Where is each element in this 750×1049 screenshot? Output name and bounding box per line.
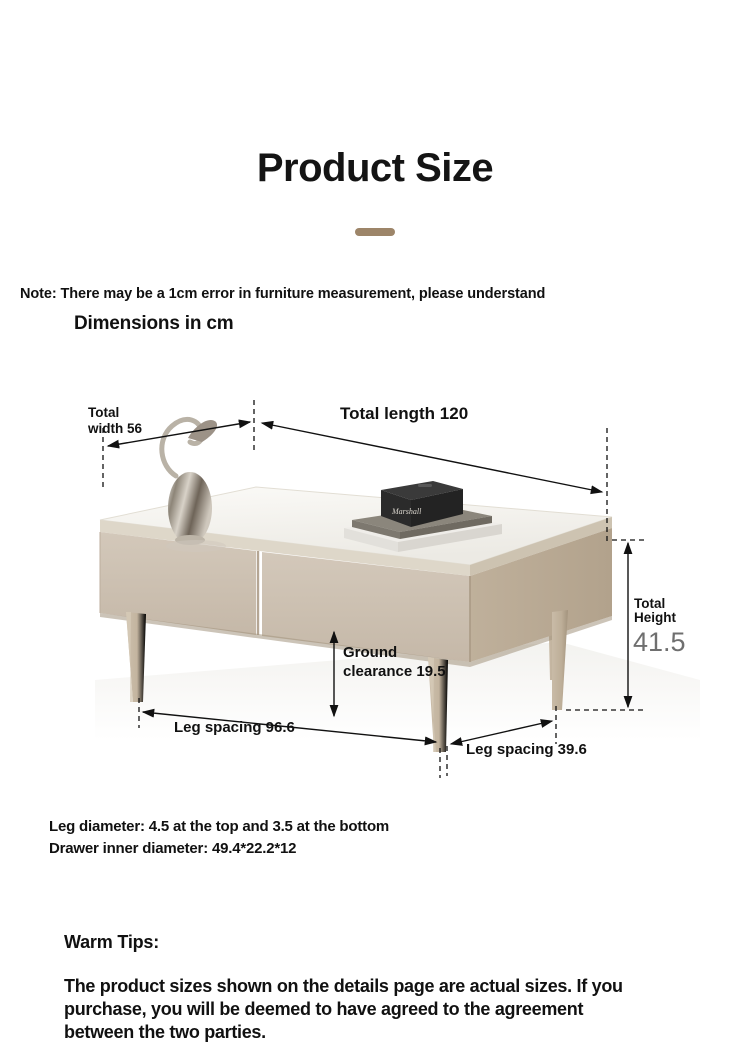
spec-drawer-inner-diameter: Drawer inner diameter: 49.4*22.2*12 bbox=[49, 838, 389, 860]
title-divider bbox=[355, 228, 395, 236]
ground-clearance-label-line2: clearance 19.5 bbox=[343, 663, 446, 680]
product-dimension-diagram: Marshall Total width 56 Total length 120… bbox=[0, 380, 750, 790]
svg-text:Marshall: Marshall bbox=[391, 507, 422, 516]
units-label: Dimensions in cm bbox=[74, 313, 233, 335]
total-length-label: Total length 120 bbox=[340, 404, 468, 423]
spec-list: Leg diameter: 4.5 at the top and 3.5 at … bbox=[49, 816, 389, 860]
total-height-label-line2: Height bbox=[634, 610, 677, 625]
total-width-label-line2: width 56 bbox=[87, 421, 142, 436]
ground-clearance-label-line1: Ground bbox=[343, 644, 397, 661]
warm-tips-body: The product sizes shown on the details p… bbox=[64, 975, 624, 1044]
total-width-label-line1: Total bbox=[88, 405, 119, 420]
leg-spacing-long-label: Leg spacing 96.6 bbox=[174, 719, 295, 736]
dimension-total-width: Total width 56 bbox=[87, 400, 254, 490]
page-title: Product Size bbox=[0, 148, 750, 188]
measurement-note: Note: There may be a 1cm error in furnit… bbox=[20, 286, 545, 302]
total-height-value: 41.5 bbox=[633, 627, 686, 657]
spec-leg-diameter: Leg diameter: 4.5 at the top and 3.5 at … bbox=[49, 816, 389, 838]
total-height-label-line1: Total bbox=[634, 596, 665, 611]
warm-tips-title: Warm Tips: bbox=[64, 932, 159, 953]
leg-spacing-short-label: Leg spacing 39.6 bbox=[466, 741, 587, 758]
